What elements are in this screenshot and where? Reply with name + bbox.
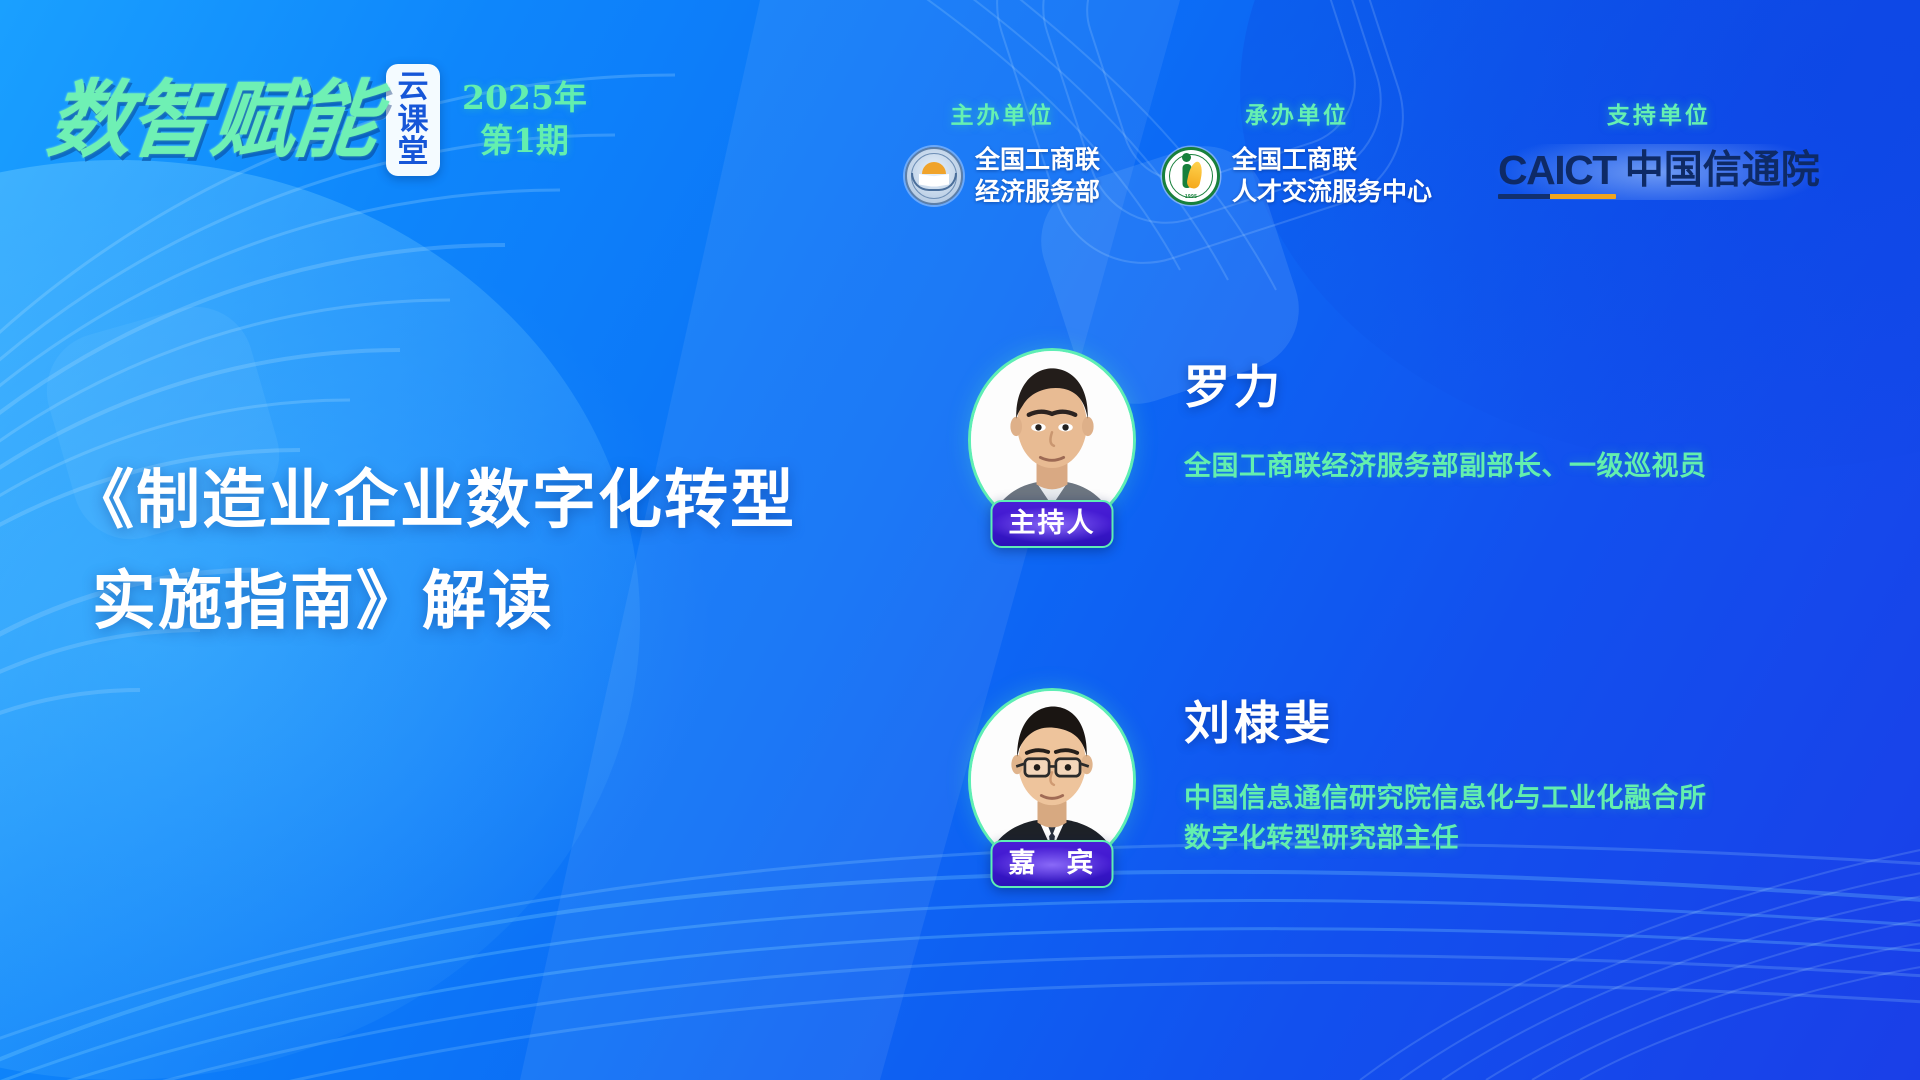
talent-center-seal-icon: 1995 [1162,147,1220,205]
issue-year: 2025年 [462,77,587,120]
speaker-guest-avatar-wrap: 嘉 宾 [968,688,1136,872]
org-organizer-heading: 承办单位 [1245,96,1349,130]
speaker-card-guest: 嘉 宾 刘棣斐 中国信息通信研究院信息化与工业化融合所 数字化转型研究部主任 [968,688,1707,872]
org-host-name-line2: 经济服务部 [975,176,1100,208]
cffic-seal-icon [905,147,963,205]
page-title: 《制造业企业数字化转型 实施指南》解读 [70,450,950,652]
speaker-card-host: 主持人 罗力 全国工商联经济服务部副部长、一级巡视员 [968,348,1707,532]
speaker-guest-title-line2: 数字化转型研究部主任 [1184,819,1707,859]
page-title-line2: 实施指南》解读 [70,551,950,652]
poster-canvas: 数智赋能 云 课 堂 2025年 第1期 主办单位 全国工商联 经济服务部 [0,0,1920,1080]
caict-logo-icon: CAICT 中国信通院 [1484,144,1834,200]
issue-number: 2025年 第1期 [462,77,587,163]
speaker-guest-name: 刘棣斐 [1184,698,1707,749]
brand-script-logo: 数智赋能 [44,78,381,162]
caict-chinese-name: 中国信通院 [1625,151,1820,190]
speaker-host-info: 罗力 全国工商联经济服务部副部长、一级巡视员 [1184,348,1707,487]
speaker-host-title: 全国工商联经济服务部副部长、一级巡视员 [1184,447,1707,487]
yunketang-char-3: 堂 [398,136,429,169]
org-organizer-name-line2: 人才交流服务中心 [1232,176,1432,208]
speaker-guest-info: 刘棣斐 中国信息通信研究院信息化与工业化融合所 数字化转型研究部主任 [1184,688,1707,859]
yunketang-char-1: 云 [398,71,429,104]
yunketang-char-2: 课 [398,104,429,137]
org-supporter: 支持单位 CAICT 中国信通院 [1484,96,1834,200]
page-title-line1: 《制造业企业数字化转型 [70,450,950,551]
caict-underline [1498,194,1616,199]
org-host: 主办单位 全国工商联 经济服务部 [905,96,1100,208]
speaker-guest-title-line1: 中国信息通信研究院信息化与工业化融合所 [1184,779,1707,819]
speaker-guest-title: 中国信息通信研究院信息化与工业化融合所 数字化转型研究部主任 [1184,779,1707,859]
caict-wordmark: CAICT [1498,150,1616,191]
org-supporter-heading: 支持单位 [1607,96,1711,130]
organizations-bar: 主办单位 全国工商联 经济服务部 承办单位 1995 [905,96,1834,208]
org-host-name: 全国工商联 经济服务部 [975,144,1100,208]
yunketang-badge: 云 课 堂 [386,64,440,176]
org-organizer-name-line1: 全国工商联 [1232,144,1432,176]
brand-lockup: 数智赋能 云 课 堂 2025年 第1期 [48,64,587,176]
status-badge: 主持人 [991,500,1114,548]
speaker-host-title-line1: 全国工商联经济服务部副部长、一级巡视员 [1184,447,1707,487]
org-organizer: 承办单位 1995 全国工商联 人才交流服务中心 [1162,96,1432,208]
org-host-heading: 主办单位 [951,96,1055,130]
issue-edition: 第1期 [462,120,587,163]
org-organizer-name: 全国工商联 人才交流服务中心 [1232,144,1432,208]
speaker-host-name: 罗力 [1184,362,1707,413]
status-badge: 嘉 宾 [991,840,1114,888]
org-host-name-line1: 全国工商联 [975,144,1100,176]
speaker-host-avatar-wrap: 主持人 [968,348,1136,532]
